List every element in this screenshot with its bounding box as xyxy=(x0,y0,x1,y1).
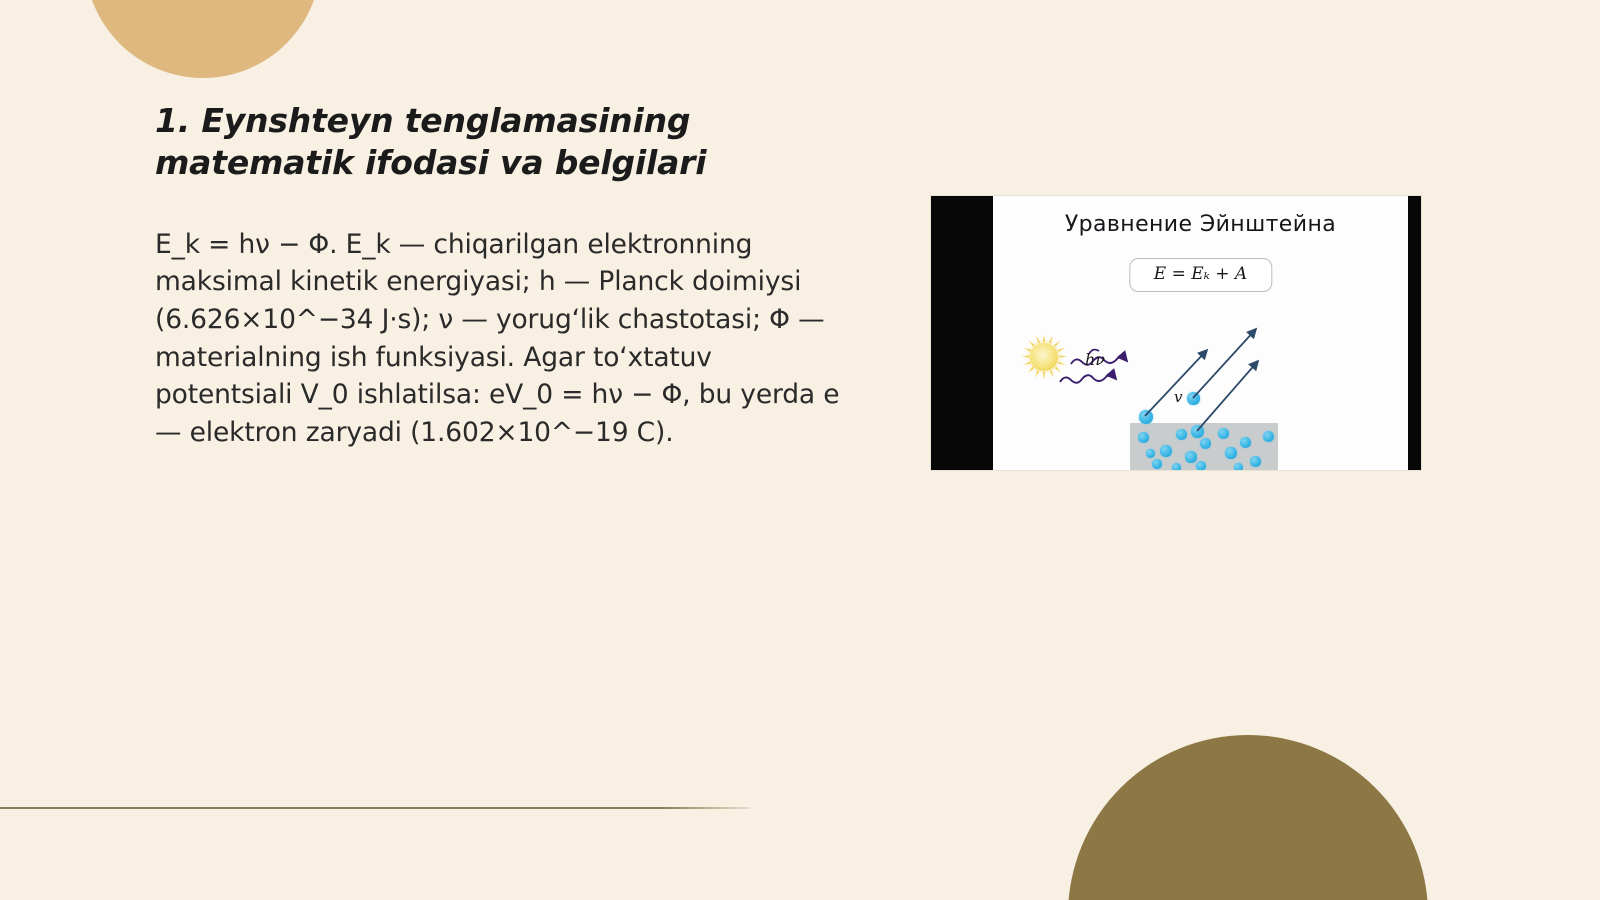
slide-canvas: 1. Eynshteyn tenglamasining matematik if… xyxy=(0,0,1600,900)
illustration-caption: Уравнение Эйнштейна xyxy=(993,212,1408,237)
decorative-circle-bottom-right xyxy=(1068,735,1428,900)
letterbox-bar-right xyxy=(1408,196,1421,470)
sun-icon xyxy=(1021,334,1067,380)
body-paragraph: E_k = hν − Φ. E_k — chiqarilgan elektron… xyxy=(155,226,845,452)
free-electron xyxy=(1139,410,1153,424)
free-electron xyxy=(1191,425,1204,438)
divider-rule xyxy=(0,807,750,809)
letterbox-bar-left xyxy=(931,196,993,470)
decorative-circle-top-left xyxy=(85,0,321,78)
free-electron xyxy=(1187,392,1200,405)
page-title: 1. Eynshteyn tenglamasining matematik if… xyxy=(155,100,845,184)
material-slab xyxy=(1130,423,1278,470)
illustration-image: Уравнение Эйнштейна E = Eₖ + A xyxy=(931,196,1421,470)
photon-label: hν xyxy=(1085,350,1105,369)
velocity-label: v xyxy=(1174,388,1182,406)
illustration-stage: Уравнение Эйнштейна E = Eₖ + A xyxy=(993,196,1408,470)
equation-box: E = Eₖ + A xyxy=(1129,258,1272,292)
text-column: 1. Eynshteyn tenglamasining matematik if… xyxy=(155,100,845,452)
